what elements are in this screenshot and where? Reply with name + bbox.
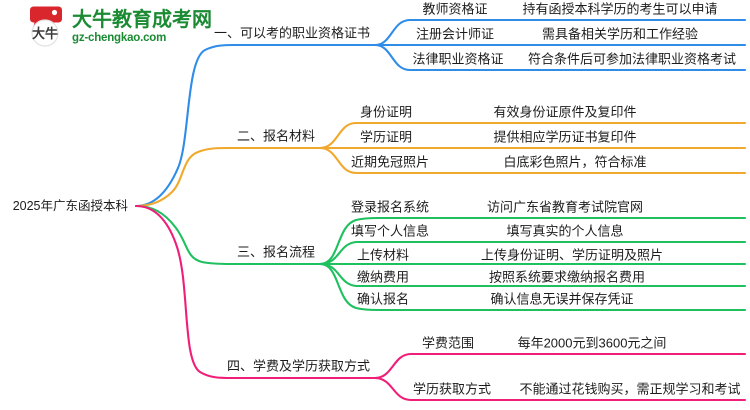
- leaf-desc-2-1: 有效身份证原件及复印件: [493, 106, 636, 119]
- leaf-desc-2-2: 提供相应学历证书复印件: [493, 131, 636, 144]
- sub-label-1-2[interactable]: 注册会计师证: [416, 28, 494, 41]
- leaf-desc-3-5: 确认信息无误并保存凭证: [490, 293, 633, 306]
- branch-label-1[interactable]: 一、可以考的职业资格证书: [214, 27, 370, 40]
- sub-label-3-4[interactable]: 缴纳费用: [357, 271, 409, 284]
- svg-text:大牛: 大牛: [32, 26, 58, 42]
- leaf-desc-3-2: 填写真实的个人信息: [506, 225, 623, 238]
- branch-label-4[interactable]: 四、学费及学历获取方式: [227, 360, 370, 373]
- leaf-desc-3-1: 访问广东省教育考试院官网: [487, 201, 643, 214]
- sub-label-3-3[interactable]: 上传材料: [357, 249, 409, 262]
- leaf-desc-3-4: 按照系统要求缴纳报名费用: [489, 271, 645, 284]
- sub-label-3-1[interactable]: 登录报名系统: [351, 201, 429, 214]
- sub-label-1-1[interactable]: 教师资格证: [422, 3, 487, 16]
- site-logo: 大牛 大牛教育成考网 gz-chengkao.com: [24, 6, 212, 48]
- sub-label-4-1[interactable]: 学费范围: [422, 337, 474, 350]
- mindmap-canvas: 大牛 大牛教育成考网 gz-chengkao.com: [0, 0, 750, 410]
- sub-label-2-2[interactable]: 学历证明: [360, 131, 412, 144]
- branch-label-3[interactable]: 三、报名流程: [237, 246, 315, 259]
- sub-label-1-3[interactable]: 法律职业资格证: [412, 53, 503, 66]
- logo-title: 大牛教育成考网: [72, 10, 212, 30]
- leaf-desc-4-1: 每年2000元到3600元之间: [518, 337, 667, 350]
- branch-1-connectors: [136, 20, 745, 206]
- branch-label-2[interactable]: 二、报名材料: [237, 130, 315, 143]
- leaf-desc-1-2: 需具备相关学历和工作经验: [542, 28, 698, 41]
- sub-label-4-2[interactable]: 学历获取方式: [413, 383, 491, 396]
- root-node[interactable]: 2025年广东函授本科: [13, 200, 128, 213]
- leaf-desc-2-3: 白底彩色照片，符合标准: [503, 156, 646, 169]
- speech-bubble-niu-icon: 大牛: [24, 6, 66, 48]
- leaf-desc-1-1: 持有函授本科学历的考生可以申请: [522, 3, 717, 16]
- sub-label-3-2[interactable]: 填写个人信息: [351, 225, 429, 238]
- leaf-desc-3-3: 上传身份证明、学历证明及照片: [481, 249, 663, 262]
- branch-2-connectors: [136, 123, 745, 206]
- logo-subtitle: gz-chengkao.com: [72, 33, 212, 45]
- leaf-desc-4-2: 不能通过花钱购买，需正规学习和考试: [519, 383, 740, 396]
- sub-label-3-5[interactable]: 确认报名: [357, 293, 409, 306]
- sub-label-2-1[interactable]: 身份证明: [360, 106, 412, 119]
- sub-label-2-3[interactable]: 近期免冠照片: [351, 156, 429, 169]
- leaf-desc-1-3: 符合条件后可参加法律职业资格考试: [528, 53, 736, 66]
